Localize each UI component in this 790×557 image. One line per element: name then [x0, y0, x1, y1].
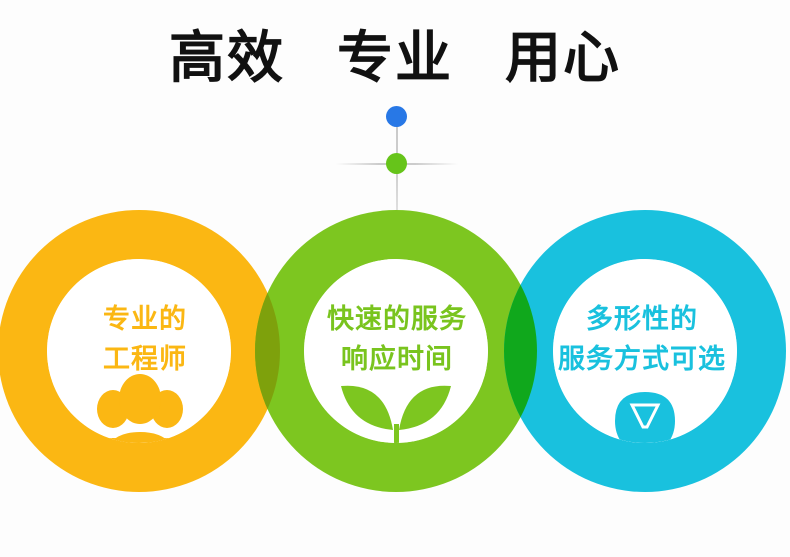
venn-rings-graphic: [0, 0, 790, 557]
ring-label-line: 快速的服务: [292, 300, 502, 340]
ring-label-service-modes: 多形性的 服务方式可选: [527, 300, 757, 380]
ring-label-line: 响应时间: [292, 340, 502, 380]
ring-label-engineers: 专业的 工程师: [50, 300, 240, 380]
infographic-canvas: 高效专业用心: [0, 0, 790, 557]
ring-label-line: 服务方式可选: [527, 340, 757, 380]
ring-label-line: 工程师: [50, 340, 240, 380]
ring-label-line: 专业的: [50, 300, 240, 340]
ring-label-line: 多形性的: [527, 300, 757, 340]
ring-label-response: 快速的服务 响应时间: [292, 300, 502, 380]
